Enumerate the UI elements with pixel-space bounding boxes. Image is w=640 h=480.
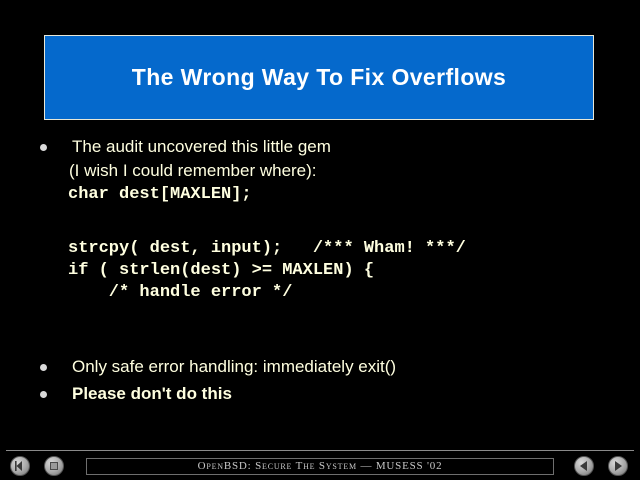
slide-body: The audit uncovered this little gem (I w… — [0, 128, 640, 428]
first-slide-glyph — [11, 457, 29, 475]
bullet-item-3-label: Please don't do this — [72, 383, 232, 405]
next-slide-glyph — [609, 457, 627, 475]
bullet-item-2: Only safe error handling: immediately ex… — [40, 356, 396, 378]
first-slide-icon[interactable] — [10, 456, 30, 476]
bullet-dot-icon — [40, 144, 47, 151]
bullet-item-1: The audit uncovered this little gem — [40, 136, 331, 158]
footer-title-text: OpenBSD: Secure The System — MUSESS '02 — [198, 460, 443, 472]
bullet-item-1-continuation: (I wish I could remember where): — [69, 160, 317, 182]
bullet-item-3: Please don't do this — [40, 383, 232, 405]
bullet-item-1-label: The audit uncovered this little gem — [72, 136, 331, 158]
bullet-dot-icon — [40, 391, 47, 398]
slide-canvas: The Wrong Way To Fix Overflows The audit… — [0, 0, 640, 480]
next-slide-icon[interactable] — [608, 456, 628, 476]
code-line-declaration: char dest[MAXLEN]; — [68, 184, 252, 206]
bullet-dot-icon — [40, 364, 47, 371]
code-line-if: if ( strlen(dest) >= MAXLEN) { — [68, 260, 374, 282]
footer-divider — [6, 450, 634, 451]
previous-slide-icon[interactable] — [574, 456, 594, 476]
page-title: The Wrong Way To Fix Overflows — [132, 64, 507, 91]
code-line-strcpy: strcpy( dest, input); /*** Wham! ***/ — [68, 238, 466, 260]
slide-title-banner: The Wrong Way To Fix Overflows — [44, 35, 594, 120]
stop-icon[interactable] — [44, 456, 64, 476]
footer-title-bar: OpenBSD: Secure The System — MUSESS '02 — [86, 458, 554, 475]
bullet-item-2-label: Only safe error handling: immediately ex… — [72, 356, 396, 378]
footer-toolbar: OpenBSD: Secure The System — MUSESS '02 — [0, 452, 640, 480]
stop-square-glyph — [50, 462, 58, 470]
code-line-handle-error: /* handle error */ — [68, 282, 292, 304]
previous-slide-glyph — [575, 457, 593, 475]
